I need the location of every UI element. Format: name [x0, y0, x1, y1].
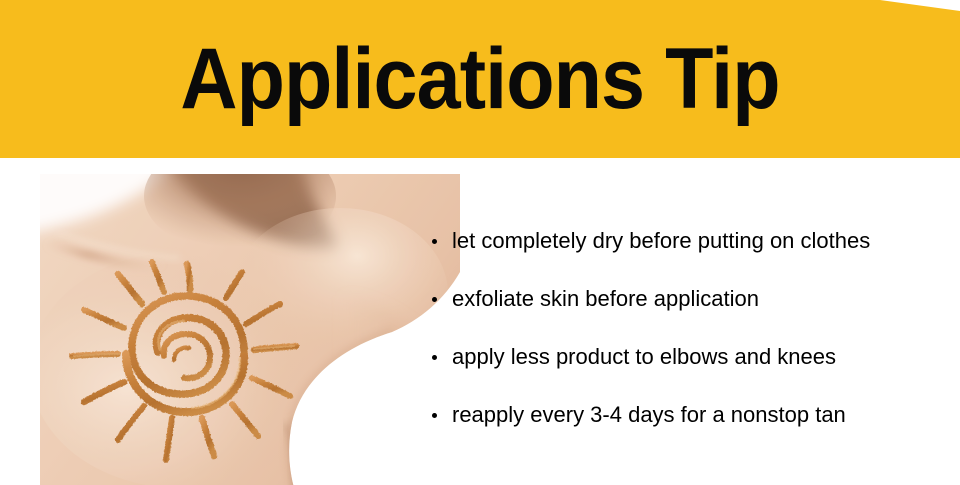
tip-text: apply less product to elbows and knees — [452, 345, 836, 369]
list-item: reapply every 3-4 days for a nonstop tan — [428, 386, 952, 444]
list-item: let completely dry before putting on clo… — [428, 212, 952, 270]
bullet-icon — [432, 297, 437, 302]
tanning-photo-image — [40, 174, 460, 485]
list-item: exfoliate skin before application — [428, 270, 952, 328]
bullet-icon — [432, 355, 437, 360]
tip-text: let completely dry before putting on clo… — [452, 229, 870, 253]
application-tip-banner: Applications Tip — [0, 0, 960, 485]
header-banner: Applications Tip — [0, 0, 960, 158]
tip-text: reapply every 3-4 days for a nonstop tan — [452, 403, 846, 427]
bullet-icon — [432, 239, 437, 244]
bullet-icon — [432, 413, 437, 418]
tip-text: exfoliate skin before application — [452, 287, 759, 311]
page-title: Applications Tip — [38, 0, 921, 158]
list-item: apply less product to elbows and knees — [428, 328, 952, 386]
tanning-photo — [40, 174, 460, 485]
tips-list: let completely dry before putting on clo… — [428, 212, 952, 444]
